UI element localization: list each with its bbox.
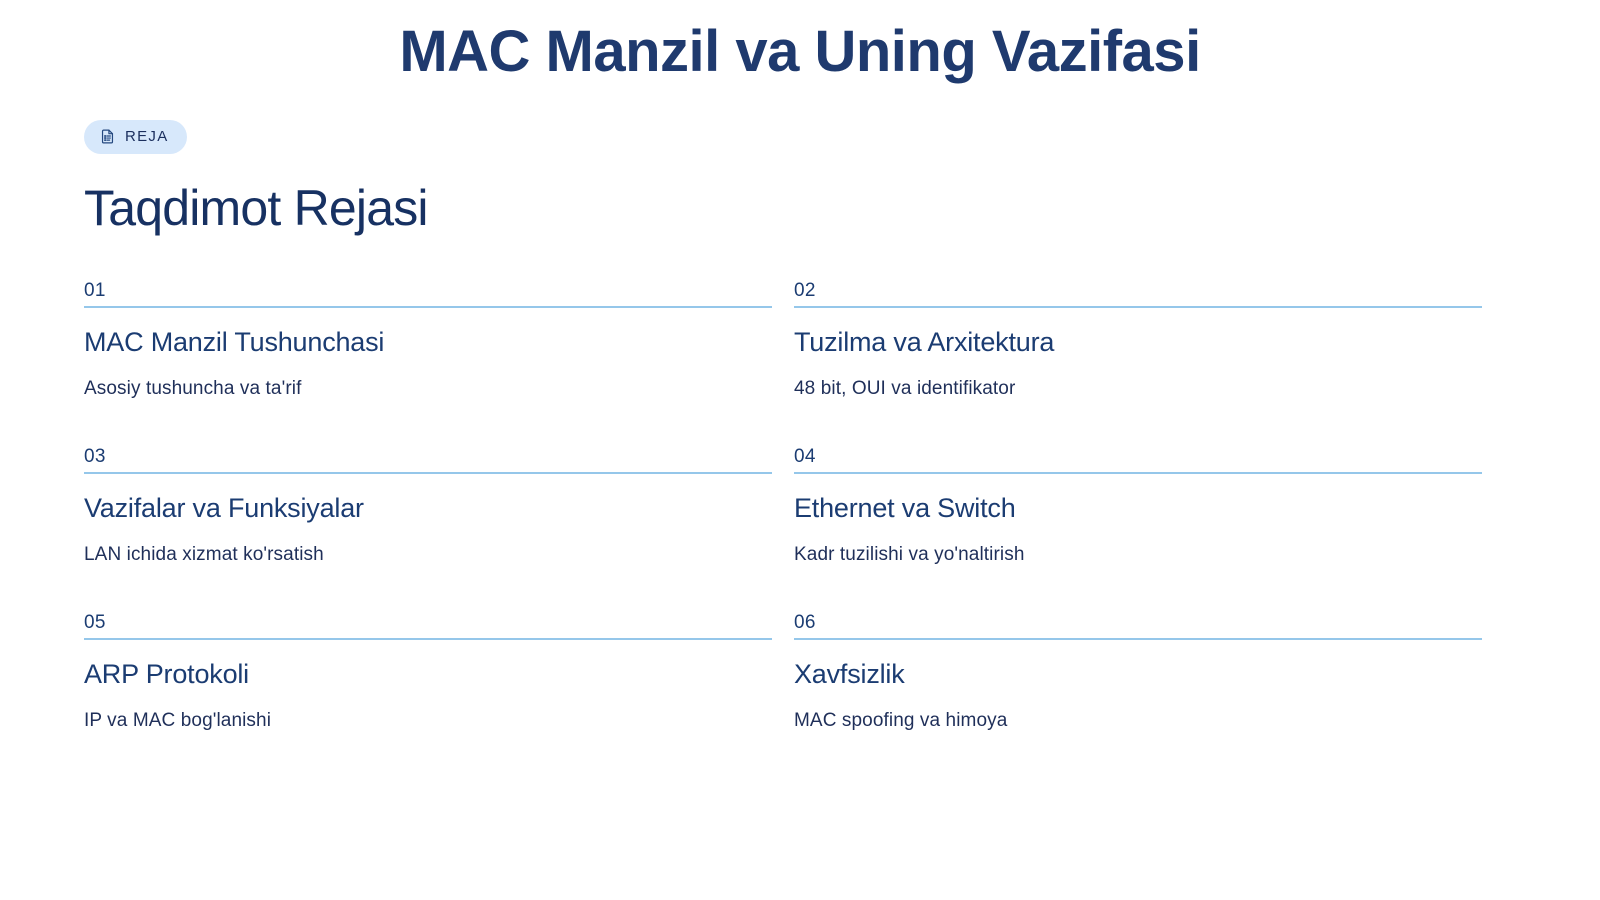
agenda-item-number: 05 xyxy=(84,613,772,638)
agenda-item-title: ARP Protokoli xyxy=(84,658,772,690)
agenda-item-divider xyxy=(794,472,1482,474)
agenda-item-title: Vazifalar va Funksiyalar xyxy=(84,492,772,524)
agenda-item-number: 01 xyxy=(84,281,772,306)
agenda-item-divider xyxy=(794,638,1482,640)
slide-content: REJA Taqdimot Rejasi 01 MAC Manzil Tushu… xyxy=(0,120,1600,734)
agenda-item-02[interactable]: 02 Tuzilma va Arxitektura 48 bit, OUI va… xyxy=(794,281,1482,401)
badge-row: REJA xyxy=(84,120,1516,154)
agenda-item-divider xyxy=(84,306,772,308)
agenda-item-06[interactable]: 06 Xavfsizlik MAC spoofing va himoya xyxy=(794,613,1482,733)
agenda-item-divider xyxy=(84,638,772,640)
badge-label: REJA xyxy=(125,129,169,144)
agenda-item-description: Kadr tuzilishi va yo'naltirish xyxy=(794,543,1482,568)
agenda-item-divider xyxy=(84,472,772,474)
reja-badge: REJA xyxy=(84,120,187,154)
agenda-item-description: Asosiy tushuncha va ta'rif xyxy=(84,377,772,402)
agenda-item-title: Ethernet va Switch xyxy=(794,492,1482,524)
presentation-slide: MAC Manzil va Uning Vazifasi REJA Taqdim xyxy=(0,0,1600,900)
agenda-item-divider xyxy=(794,306,1482,308)
agenda-item-number: 06 xyxy=(794,613,1482,638)
page-title: MAC Manzil va Uning Vazifasi xyxy=(0,0,1600,84)
agenda-item-description: MAC spoofing va himoya xyxy=(794,709,1482,734)
agenda-item-01[interactable]: 01 MAC Manzil Tushunchasi Asosiy tushunc… xyxy=(84,281,772,401)
agenda-item-number: 02 xyxy=(794,281,1482,306)
agenda-item-title: Xavfsizlik xyxy=(794,658,1482,690)
agenda-item-description: LAN ichida xizmat ko'rsatish xyxy=(84,543,772,568)
agenda-item-title: MAC Manzil Tushunchasi xyxy=(84,326,772,358)
section-heading: Taqdimot Rejasi xyxy=(84,180,1516,238)
agenda-item-description: IP va MAC bog'lanishi xyxy=(84,709,772,734)
agenda-item-description: 48 bit, OUI va identifikator xyxy=(794,377,1482,402)
document-list-icon xyxy=(98,128,116,146)
agenda-item-05[interactable]: 05 ARP Protokoli IP va MAC bog'lanishi xyxy=(84,613,772,733)
agenda-item-04[interactable]: 04 Ethernet va Switch Kadr tuzilishi va … xyxy=(794,447,1482,567)
agenda-item-number: 03 xyxy=(84,447,772,472)
agenda-item-title: Tuzilma va Arxitektura xyxy=(794,326,1482,358)
agenda-grid: 01 MAC Manzil Tushunchasi Asosiy tushunc… xyxy=(84,281,1516,733)
agenda-item-number: 04 xyxy=(794,447,1482,472)
agenda-item-03[interactable]: 03 Vazifalar va Funksiyalar LAN ichida x… xyxy=(84,447,772,567)
